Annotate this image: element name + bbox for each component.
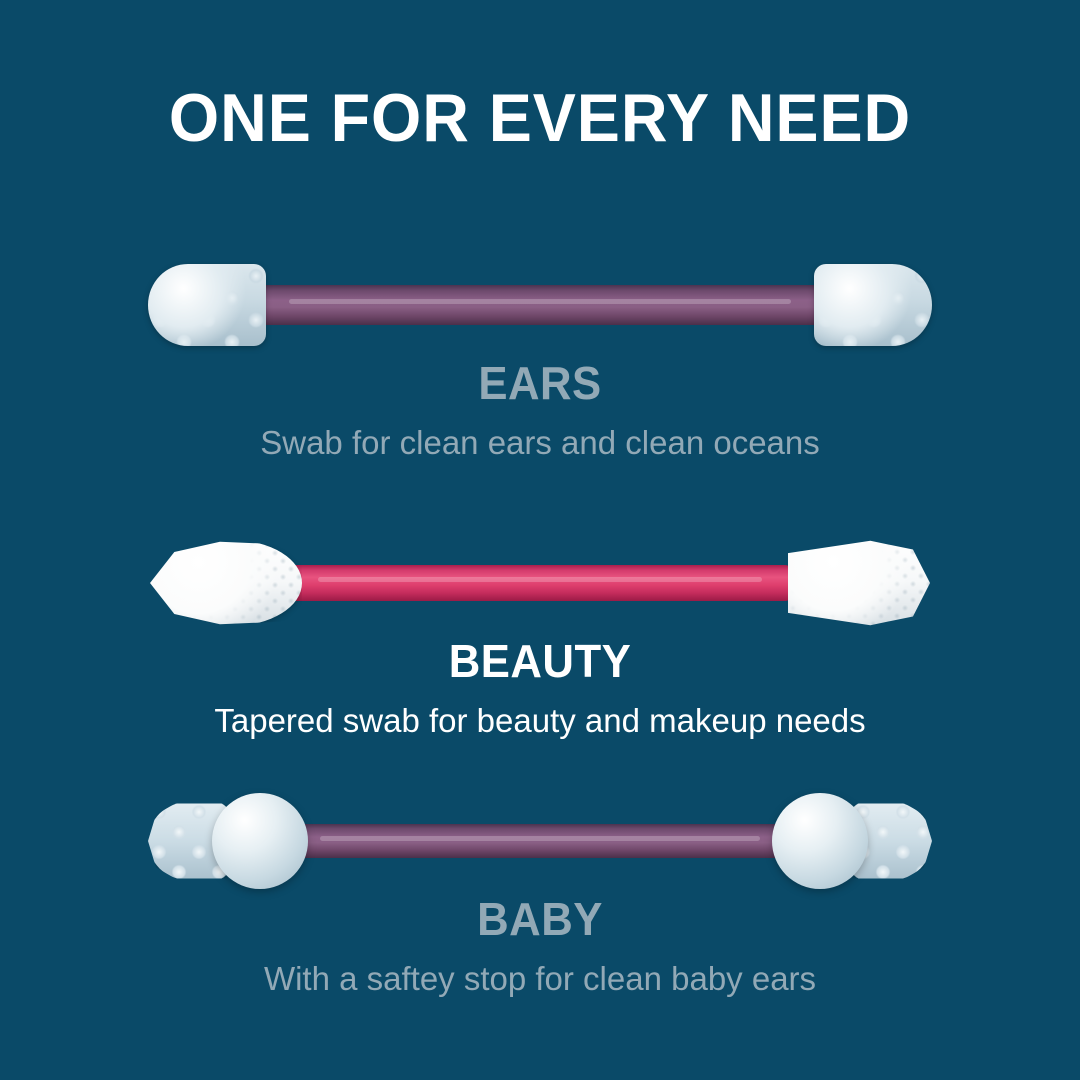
page-title: ONE FOR EVERY NEED xyxy=(27,84,1053,152)
beauty-swab-stem xyxy=(288,565,792,601)
section-baby: BABY With a saftey stop for clean baby e… xyxy=(0,786,1080,998)
baby-swab xyxy=(0,786,1080,896)
ears-description: Swab for clean ears and clean oceans xyxy=(0,424,1080,462)
section-beauty: BEAUTY Tapered swab for beauty and makeu… xyxy=(0,528,1080,740)
baby-swab-safety-stop-right xyxy=(772,793,868,889)
section-ears: EARS Swab for clean ears and clean ocean… xyxy=(0,250,1080,462)
beauty-swab-tip-left xyxy=(150,540,302,626)
beauty-label: BEAUTY xyxy=(27,638,1053,684)
ears-label: EARS xyxy=(27,360,1053,406)
beauty-swab xyxy=(0,528,1080,638)
beauty-description: Tapered swab for beauty and makeup needs xyxy=(0,702,1080,740)
baby-description: With a saftey stop for clean baby ears xyxy=(0,960,1080,998)
beauty-swab-tip-right xyxy=(788,539,930,627)
infographic-page: ONE FOR EVERY NEED EARS Swab for clean e… xyxy=(0,0,1080,1080)
baby-swab-safety-stop-left xyxy=(212,793,308,889)
ears-swab-tip-right xyxy=(814,264,932,346)
ears-swab-stem xyxy=(255,285,825,325)
ears-swab xyxy=(0,250,1080,360)
baby-label: BABY xyxy=(27,896,1053,942)
ears-swab-tip-left xyxy=(148,264,266,346)
baby-swab-stem xyxy=(290,824,790,858)
